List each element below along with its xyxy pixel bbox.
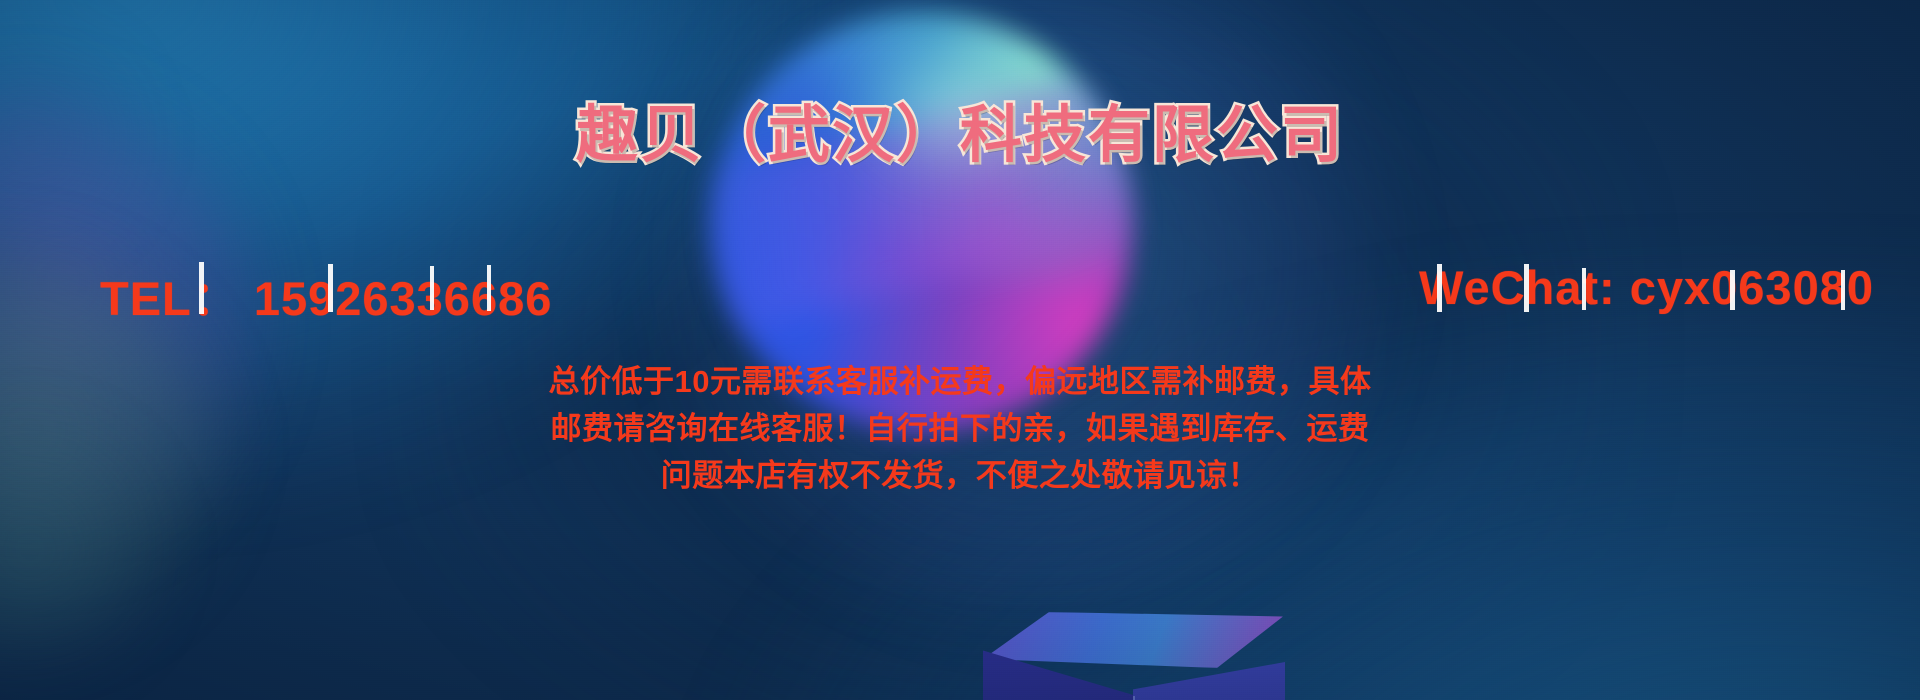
company-title: 趣贝（武汉）科技有限公司 [0, 84, 1920, 174]
wechat-text: WeChat: cyx063080 [1419, 260, 1874, 315]
glitch-sliver [487, 265, 491, 311]
notice-line-1: 总价低于10元需联系客服补运费，偏远地区需补邮费，具体 [0, 358, 1920, 405]
glitch-sliver [1582, 268, 1586, 310]
glitch-sliver [199, 262, 204, 314]
contact-row: TEL： 15926336686 WeChat: cyx063080 [0, 260, 1920, 324]
glitch-sliver [1524, 264, 1529, 312]
promo-banner: 趣贝（武汉）科技有限公司 TEL： 15926336686 WeChat: cy… [0, 0, 1920, 700]
glitch-sliver [1841, 270, 1845, 310]
glitch-sliver [430, 266, 434, 310]
glitch-sliver [1730, 270, 1735, 310]
glitch-sliver [328, 264, 333, 312]
notice-line-2: 邮费请咨询在线客服！自行拍下的亲，如果遇到库存、运费 [0, 405, 1920, 452]
wechat-value: WeChat: cyx063080 [1419, 261, 1874, 314]
telephone-value: TEL： 15926336686 [100, 272, 552, 325]
shipping-notice: 总价低于10元需联系客服补运费，偏远地区需补邮费，具体 邮费请咨询在线客服！自行… [0, 358, 1920, 499]
glitch-sliver [1437, 264, 1442, 312]
notice-line-3: 问题本店有权不发货，不便之处敬请见谅！ [0, 452, 1920, 499]
telephone-text: TEL： 15926336686 [100, 260, 552, 329]
banner-content: 趣贝（武汉）科技有限公司 TEL： 15926336686 WeChat: cy… [0, 0, 1920, 700]
